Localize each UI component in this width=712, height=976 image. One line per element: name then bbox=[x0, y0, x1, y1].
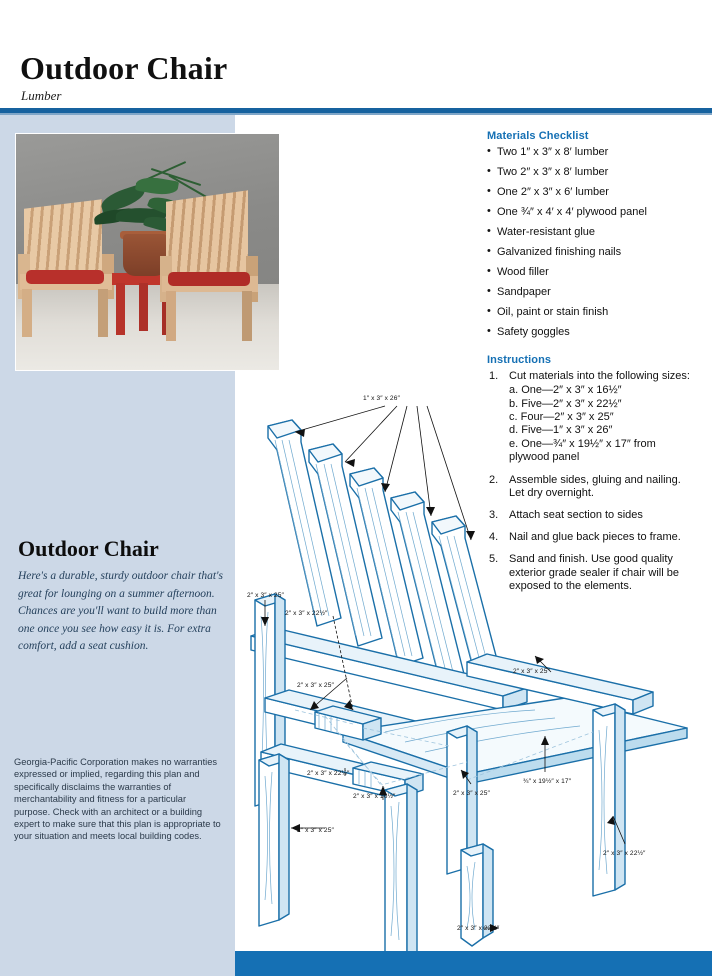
legal-disclaimer: Georgia-Pacific Corporation makes no war… bbox=[14, 756, 224, 843]
material-item: Two 1″ x 3″ x 8′ lumber bbox=[487, 146, 699, 158]
leg-front-right bbox=[593, 704, 625, 896]
material-item: Safety goggles bbox=[487, 326, 699, 338]
photo-chair-right-leg-front bbox=[166, 291, 176, 341]
project-photo bbox=[15, 133, 280, 371]
materials-heading: Materials Checklist bbox=[487, 130, 699, 142]
material-item: Galvanized finishing nails bbox=[487, 246, 699, 258]
photo-chair-left-cushion bbox=[26, 270, 104, 284]
photo-chair-left-leg-back bbox=[98, 289, 108, 337]
material-item: One 2″ x 3″ x 6′ lumber bbox=[487, 186, 699, 198]
photo-side-table-leg-1 bbox=[116, 283, 125, 335]
material-item: One ¾″ x 4′ x 4′ plywood panel bbox=[487, 206, 699, 218]
dimension-label-leg-front: 2″ x 3″ x 22½″ bbox=[457, 925, 500, 932]
dimension-label-lower-brace: 2″ x 3″ x 22½″ bbox=[307, 770, 350, 777]
page-header: Outdoor Chair Lumber bbox=[0, 0, 712, 112]
page-subtitle: Lumber bbox=[21, 88, 61, 104]
material-item: Two 2″ x 3″ x 8′ lumber bbox=[487, 166, 699, 178]
photo-side-table-leg-3 bbox=[139, 283, 148, 331]
photo-chair-right-back bbox=[166, 190, 248, 284]
dimension-label-seat-panel: ¾″ x 19½″ x 17″ bbox=[523, 778, 571, 785]
page-footer-bar bbox=[235, 951, 712, 976]
materials-section: Materials Checklist Two 1″ x 3″ x 8′ lum… bbox=[487, 130, 699, 338]
dimension-label-rear-leg: 2″ x 3″ x 25″ bbox=[453, 790, 490, 797]
leg-front-middle bbox=[385, 784, 417, 955]
material-item: Oil, paint or stain finish bbox=[487, 306, 699, 318]
assembly-diagram-svg bbox=[235, 380, 712, 955]
dimension-label-cross-brace-up: 2″ x 3″ x 22½″ bbox=[285, 610, 328, 617]
assembly-diagram: 1″ x 3″ x 26″2″ x 3″ x 25″2″ x 3″ x 22½″… bbox=[235, 380, 712, 955]
sidebar-description: Here's a durable, sturdy outdoor chair t… bbox=[18, 568, 224, 656]
sidebar-project-title: Outdoor Chair bbox=[18, 536, 159, 562]
page-title: Outdoor Chair bbox=[20, 50, 227, 87]
dimension-label-side-rail: 2″ x 3″ x 25″ bbox=[297, 682, 334, 689]
instructions-heading: Instructions bbox=[487, 354, 699, 366]
dimension-label-front-cross: 2″ x 3″ x 16½″ bbox=[353, 793, 396, 800]
dimension-label-leg-right: 2″ x 3″ x 22½″ bbox=[603, 850, 646, 857]
photo-chair-right-cushion bbox=[168, 272, 250, 286]
dimension-label-front-leg-left: 2″ x 3″ x 25″ bbox=[247, 592, 284, 599]
material-item: Sandpaper bbox=[487, 286, 699, 298]
leg-front-left bbox=[259, 754, 289, 926]
footer-sidebar-continuation bbox=[0, 951, 235, 976]
material-item: Wood filler bbox=[487, 266, 699, 278]
dimension-label-arm-rail-right: 2″ x 3″ x 25″ bbox=[513, 668, 550, 675]
dimension-label-leg-bottom-left: 2″ x 3″ x 25″ bbox=[297, 827, 334, 834]
photo-chair-left-leg-front bbox=[22, 289, 32, 337]
photo-floor bbox=[16, 284, 280, 371]
dimension-label-back-slats: 1″ x 3″ x 26″ bbox=[363, 395, 400, 402]
materials-list: Two 1″ x 3″ x 8′ lumberTwo 2″ x 3″ x 8′ … bbox=[487, 146, 699, 338]
material-item: Water-resistant glue bbox=[487, 226, 699, 238]
photo-chair-right-leg-back bbox=[242, 291, 252, 341]
